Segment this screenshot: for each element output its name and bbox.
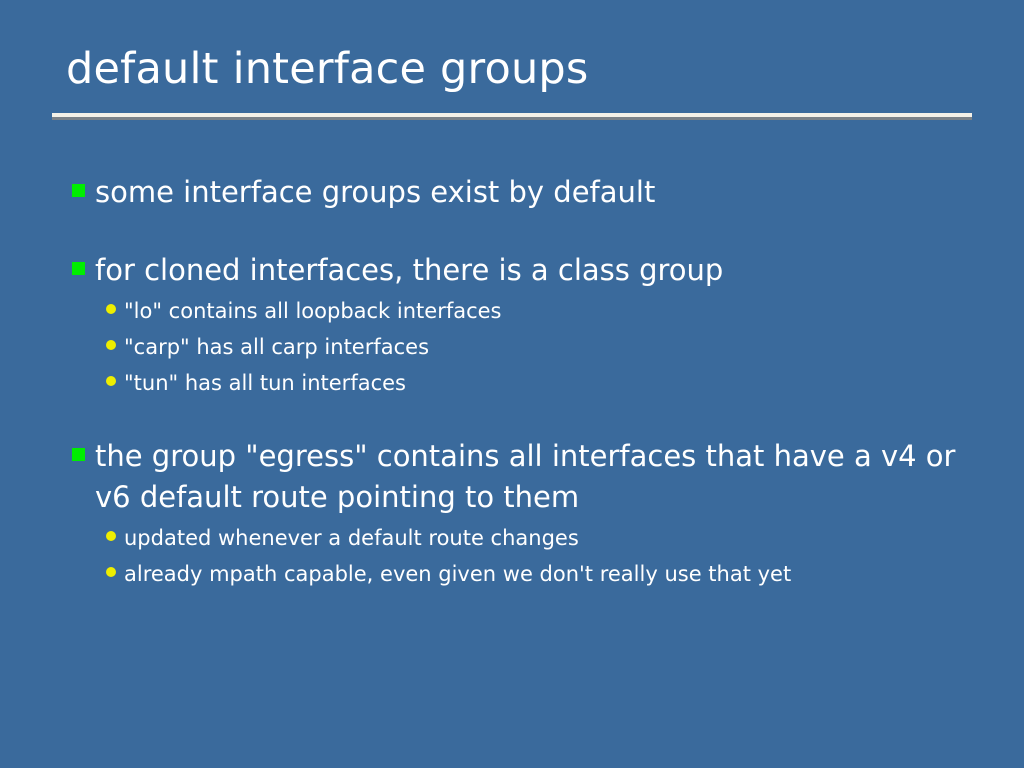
slide: default interface groups some interface … xyxy=(0,0,1024,768)
bullet-item-level2: "tun" has all tun interfaces xyxy=(72,366,972,400)
bullet-item-level1-label: the group "egress" contains all interfac… xyxy=(95,436,957,520)
bullet-item-level1-label: some interface groups exist by default xyxy=(95,172,655,214)
dot-bullet-icon xyxy=(106,531,116,541)
dot-bullet-icon xyxy=(106,340,116,350)
title-underline-rule xyxy=(52,113,972,117)
slide-body: some interface groups exist by default f… xyxy=(72,172,972,593)
bullet-item-level2-label: updated whenever a default route changes xyxy=(124,521,579,555)
sub-bullet-list: updated whenever a default route changes… xyxy=(72,521,972,591)
bullet-group: the group "egress" contains all interfac… xyxy=(72,436,972,592)
bullet-item-level2-label: "lo" contains all loopback interfaces xyxy=(124,294,502,328)
bullet-item-level2-label: "carp" has all carp interfaces xyxy=(124,330,429,364)
bullet-item-level2: "carp" has all carp interfaces xyxy=(72,330,972,364)
dot-bullet-icon xyxy=(106,376,116,386)
bullet-group: some interface groups exist by default xyxy=(72,172,972,214)
bullet-group: for cloned interfaces, there is a class … xyxy=(72,250,972,400)
bullet-item-level1-label: for cloned interfaces, there is a class … xyxy=(95,250,723,292)
bullet-item-level2-label: already mpath capable, even given we don… xyxy=(124,557,791,591)
square-bullet-icon xyxy=(72,184,85,197)
dot-bullet-icon xyxy=(106,567,116,577)
bullet-item-level2: already mpath capable, even given we don… xyxy=(72,557,972,591)
dot-bullet-icon xyxy=(106,304,116,314)
bullet-item-level2-label: "tun" has all tun interfaces xyxy=(124,366,406,400)
square-bullet-icon xyxy=(72,448,85,461)
sub-bullet-list: "lo" contains all loopback interfaces "c… xyxy=(72,294,972,400)
page-title: default interface groups xyxy=(52,48,972,99)
bullet-item-level1: some interface groups exist by default xyxy=(72,172,972,214)
bullet-item-level2: updated whenever a default route changes xyxy=(72,521,972,555)
bullet-item-level1: the group "egress" contains all interfac… xyxy=(72,436,972,520)
slide-title-block: default interface groups xyxy=(52,48,972,99)
bullet-item-level2: "lo" contains all loopback interfaces xyxy=(72,294,972,328)
bullet-item-level1: for cloned interfaces, there is a class … xyxy=(72,250,972,292)
square-bullet-icon xyxy=(72,262,85,275)
